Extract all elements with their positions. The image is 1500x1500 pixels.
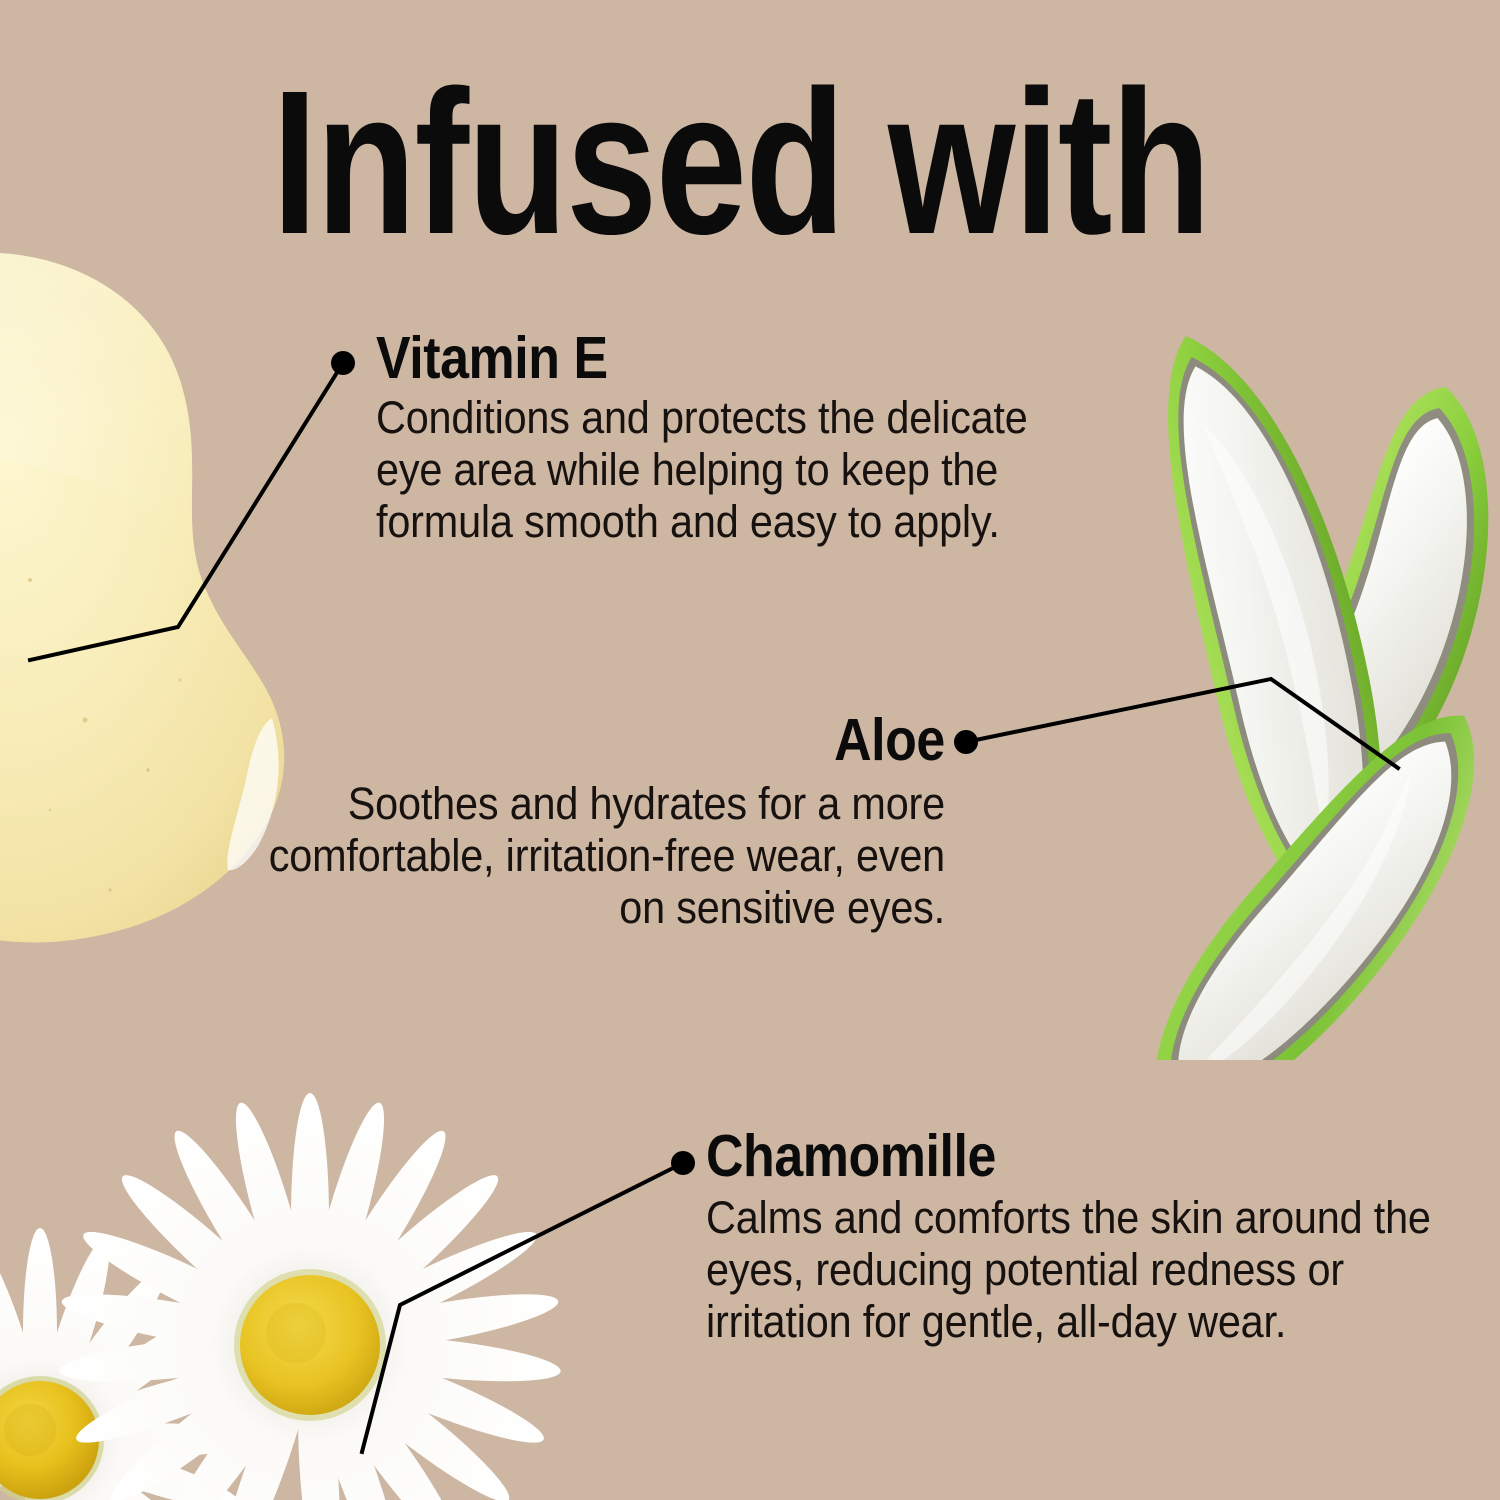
ingredient-heading-aloe: Aloe xyxy=(834,711,945,770)
ingredient-description-chamomille: Calms and comforts the skin around the e… xyxy=(706,1192,1442,1348)
leader-line-aloe xyxy=(966,679,1398,768)
callout-dot-vitamin-e xyxy=(331,351,355,375)
page-title: Infused with xyxy=(272,60,1209,265)
callout-dot-aloe xyxy=(954,730,978,754)
ingredient-description-vitamin-e: Conditions and protects the delicate eye… xyxy=(376,392,1075,548)
ingredient-heading-chamomille: Chamomille xyxy=(706,1127,996,1186)
callout-dot-chamomille xyxy=(671,1151,695,1175)
ingredient-description-aloe: Soothes and hydrates for a more comforta… xyxy=(246,778,945,934)
ingredient-heading-vitamin-e: Vitamin E xyxy=(376,329,608,388)
leader-line-chamomille xyxy=(362,1163,683,1452)
leader-line-vitamin-e xyxy=(30,363,343,660)
infographic-canvas: Infused with Vitamin E Conditions and pr… xyxy=(0,0,1500,1500)
